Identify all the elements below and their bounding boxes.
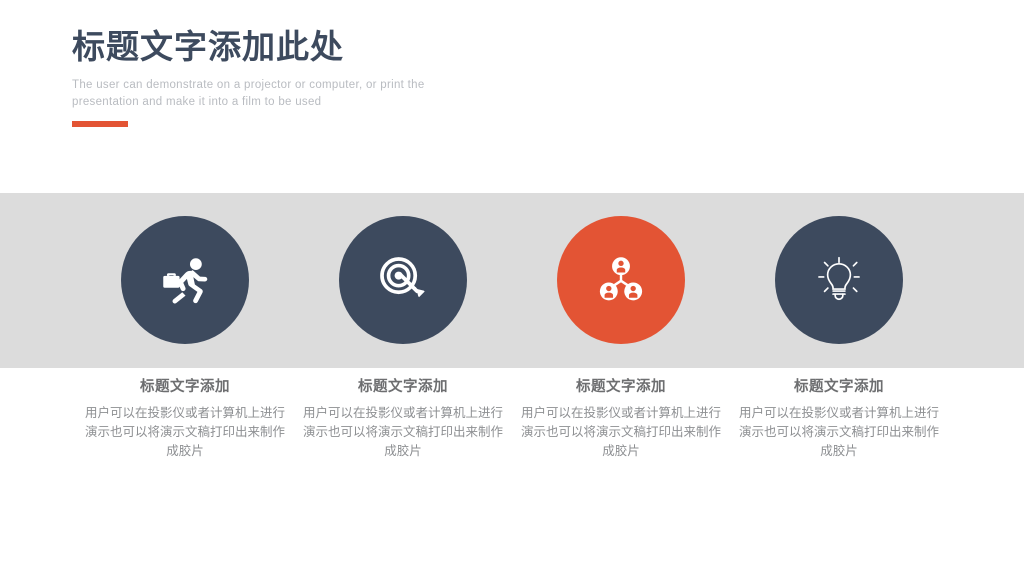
caption-column-1: 标题文字添加 用户可以在投影仪或者计算机上进行演示也可以将演示文稿打印出来制作成… <box>121 378 249 461</box>
page-title: 标题文字添加此处 <box>72 28 712 66</box>
icon-circle-1[interactable] <box>121 216 249 344</box>
slide-header: 标题文字添加此处 The user can demonstrate on a p… <box>72 28 712 111</box>
caption-body: 用户可以在投影仪或者计算机上进行演示也可以将演示文稿打印出来制作成胶片 <box>85 404 285 461</box>
team-network-icon <box>595 254 647 306</box>
slide-subtitle: The user can demonstrate on a projector … <box>72 77 454 111</box>
caption-title: 标题文字添加 <box>775 378 903 397</box>
captions-row: 标题文字添加 用户可以在投影仪或者计算机上进行演示也可以将演示文稿打印出来制作成… <box>0 378 1024 461</box>
icon-circle-2[interactable] <box>339 216 467 344</box>
caption-body: 用户可以在投影仪或者计算机上进行演示也可以将演示文稿打印出来制作成胶片 <box>521 404 721 461</box>
caption-body: 用户可以在投影仪或者计算机上进行演示也可以将演示文稿打印出来制作成胶片 <box>303 404 503 461</box>
caption-column-3: 标题文字添加 用户可以在投影仪或者计算机上进行演示也可以将演示文稿打印出来制作成… <box>557 378 685 461</box>
caption-column-4: 标题文字添加 用户可以在投影仪或者计算机上进行演示也可以将演示文稿打印出来制作成… <box>775 378 903 461</box>
caption-body: 用户可以在投影仪或者计算机上进行演示也可以将演示文稿打印出来制作成胶片 <box>739 404 939 461</box>
target-dart-icon <box>375 252 431 308</box>
lightbulb-idea-icon <box>811 252 867 308</box>
caption-title: 标题文字添加 <box>339 378 467 397</box>
presentation-slide: 标题文字添加此处 The user can demonstrate on a p… <box>0 0 1024 576</box>
icon-circle-4[interactable] <box>775 216 903 344</box>
accent-bar <box>72 121 128 127</box>
icon-circle-3[interactable] <box>557 216 685 344</box>
caption-title: 标题文字添加 <box>121 378 249 397</box>
icon-circles-row <box>0 216 1024 348</box>
caption-column-2: 标题文字添加 用户可以在投影仪或者计算机上进行演示也可以将演示文稿打印出来制作成… <box>339 378 467 461</box>
running-businessman-icon <box>156 251 214 309</box>
caption-title: 标题文字添加 <box>557 378 685 397</box>
